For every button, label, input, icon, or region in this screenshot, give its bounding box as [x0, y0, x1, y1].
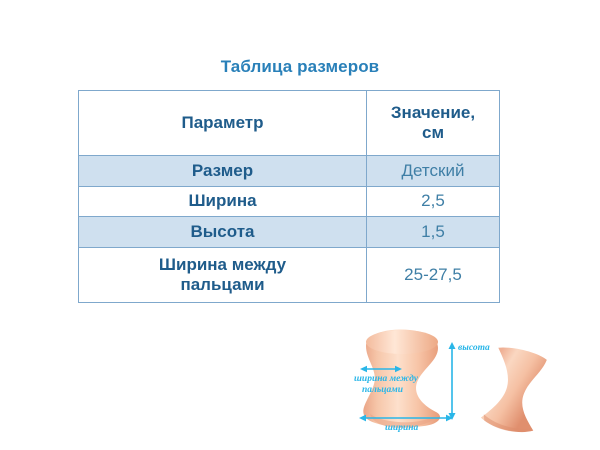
height-arrow-icon [449, 342, 456, 420]
table-row: Высота 1,5 [79, 217, 500, 248]
row-value-shirina: 2,5 [367, 187, 500, 217]
header-cell-parameter: Параметр [79, 91, 367, 156]
row-value-razmer: Детский [367, 156, 500, 187]
row-value-shirina-mezhdu-palcami: 25-27,5 [367, 248, 500, 303]
row-parameter-vysota: Высота [79, 217, 367, 248]
table-row: Размер Детский [79, 156, 500, 187]
header-cell-value: Значение, см [367, 91, 500, 156]
page-title: Таблица размеров [0, 57, 600, 77]
label-width-between-toes-line2: пальцами [362, 385, 403, 395]
size-table: Параметр Значение, см Размер Детский Шир… [78, 90, 500, 303]
row-parameter-line2: пальцами [79, 275, 366, 295]
toe-separator-side-icon [479, 344, 551, 437]
table-row: Ширина между пальцами 25-27,5 [79, 248, 500, 303]
table-header-row: Параметр Значение, см [79, 91, 500, 156]
label-width-between-toes-line1: ширина между [354, 373, 419, 384]
row-value-vysota: 1,5 [367, 217, 500, 248]
product-illustration: высота ширина между пальцами ширина [340, 318, 600, 450]
row-parameter-shirina: Ширина [79, 187, 367, 217]
label-height: высота [458, 343, 490, 353]
row-parameter-line1: Ширина между [159, 255, 286, 274]
row-parameter-shirina-mezhdu-palcami: Ширина между пальцами [79, 248, 367, 303]
table-row: Ширина 2,5 [79, 187, 500, 217]
header-value-line1: Значение, [391, 103, 475, 122]
row-parameter-razmer: Размер [79, 156, 367, 187]
label-width: ширина [385, 423, 419, 433]
header-value-line2: см [367, 123, 499, 143]
